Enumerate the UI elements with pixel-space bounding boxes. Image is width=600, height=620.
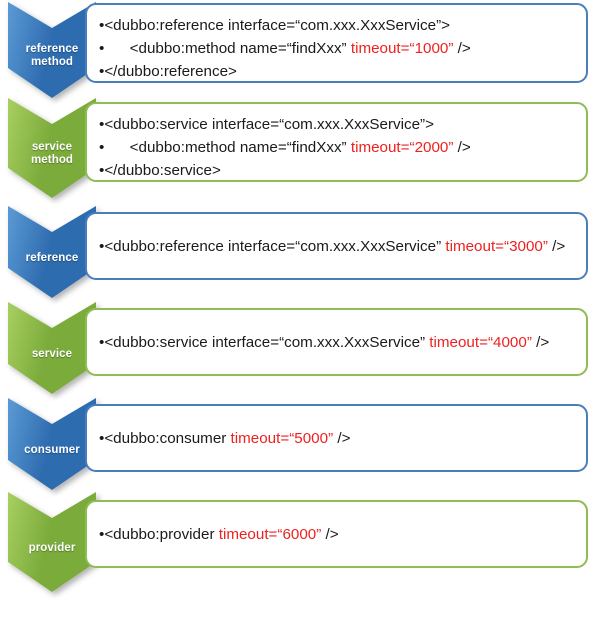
code-text: •<dubbo:consumer timeout=“5000” /> — [87, 427, 586, 450]
code-callout-box: •<dubbo:service interface=“com.xxx.XxxSe… — [85, 102, 588, 182]
code-segment: •</dubbo:reference> — [99, 63, 237, 80]
code-text: •<dubbo:reference interface=“com.xxx.Xxx… — [87, 5, 586, 83]
code-line: •<dubbo:service interface=“com.xxx.XxxSe… — [99, 331, 572, 354]
chevron-consumer: consumer — [8, 398, 96, 490]
code-segment: •</dubbo:service> — [99, 162, 221, 179]
code-line: •<dubbo:reference interface=“com.xxx.Xxx… — [99, 14, 572, 37]
timeout-attribute: timeout=“3000” — [445, 238, 548, 255]
code-segment: /> — [453, 40, 470, 57]
timeout-attribute: timeout=“4000” — [429, 334, 532, 351]
code-line: •</dubbo:reference> — [99, 60, 572, 83]
code-text: •<dubbo:service interface=“com.xxx.XxxSe… — [87, 104, 586, 182]
chevron-reference: referencemethod — [8, 2, 96, 98]
timeout-attribute: timeout=“6000” — [219, 526, 322, 543]
code-line: •<dubbo:reference interface=“com.xxx.Xxx… — [99, 235, 572, 258]
code-callout-box: •<dubbo:provider timeout=“6000” /> — [85, 500, 588, 568]
timeout-attribute: timeout=“1000” — [351, 40, 454, 57]
code-line: • <dubbo:method name=“findXxx” timeout=“… — [99, 37, 572, 60]
code-segment: •<dubbo:service interface=“com.xxx.XxxSe… — [99, 334, 429, 351]
code-line: •<dubbo:provider timeout=“6000” /> — [99, 523, 572, 546]
code-segment: •<dubbo:service interface=“com.xxx.XxxSe… — [99, 116, 434, 133]
code-callout-box: •<dubbo:service interface=“com.xxx.XxxSe… — [85, 308, 588, 376]
code-text: •<dubbo:reference interface=“com.xxx.Xxx… — [87, 235, 586, 258]
chevron-service: servicemethod — [8, 98, 96, 198]
timeout-attribute: timeout=“2000” — [351, 139, 454, 156]
code-segment: /> — [453, 139, 470, 156]
code-segment: •<dubbo:consumer — [99, 430, 231, 447]
code-segment: •<dubbo:reference interface=“com.xxx.Xxx… — [99, 238, 445, 255]
code-segment: /> — [532, 334, 549, 351]
code-text: •<dubbo:service interface=“com.xxx.XxxSe… — [87, 331, 586, 354]
code-text: •<dubbo:provider timeout=“6000” /> — [87, 523, 586, 546]
code-segment: /> — [321, 526, 338, 543]
code-line: •</dubbo:service> — [99, 159, 572, 182]
dubbo-timeout-precedence-diagram: referencemethod•<dubbo:reference interfa… — [0, 0, 600, 620]
timeout-attribute: timeout=“5000” — [231, 430, 334, 447]
code-segment: •<dubbo:provider — [99, 526, 219, 543]
code-segment: /> — [333, 430, 350, 447]
chevron-provider: provider — [8, 492, 96, 592]
code-segment: • <dubbo:method name=“findXxx” — [99, 40, 351, 57]
code-segment: •<dubbo:reference interface=“com.xxx.Xxx… — [99, 17, 450, 34]
code-segment: /> — [548, 238, 565, 255]
code-line: •<dubbo:service interface=“com.xxx.XxxSe… — [99, 113, 572, 136]
code-segment: • <dubbo:method name=“findXxx” — [99, 139, 351, 156]
code-line: • <dubbo:method name=“findXxx” timeout=“… — [99, 136, 572, 159]
chevron-service: service — [8, 302, 96, 394]
code-callout-box: •<dubbo:consumer timeout=“5000” /> — [85, 404, 588, 472]
code-line: •<dubbo:consumer timeout=“5000” /> — [99, 427, 572, 450]
code-callout-box: •<dubbo:reference interface=“com.xxx.Xxx… — [85, 3, 588, 83]
chevron-reference: reference — [8, 206, 96, 298]
code-callout-box: •<dubbo:reference interface=“com.xxx.Xxx… — [85, 212, 588, 280]
